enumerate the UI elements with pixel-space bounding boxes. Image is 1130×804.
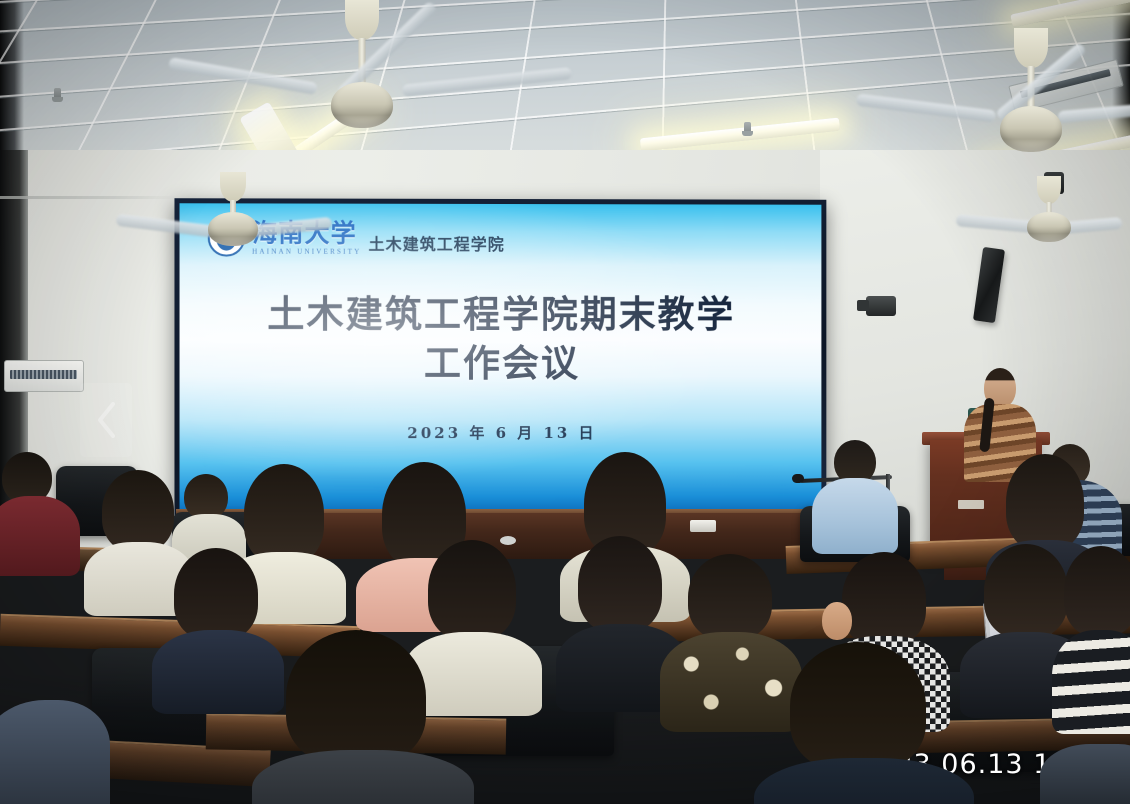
attendee-body — [1040, 744, 1130, 804]
split-air-conditioner — [4, 360, 84, 392]
attendee-head — [688, 554, 772, 640]
ceiling-tile-line — [0, 0, 1130, 68]
meeting-photo-screenshot: HN 海南大学 HAINAN UNIVERSITY 土木建筑工程学院 土木建筑工… — [0, 0, 1130, 804]
slide-title-line-2: 工作会议 — [214, 339, 788, 388]
attendee-head — [1006, 454, 1084, 550]
attendee-head — [1064, 546, 1130, 636]
slide-title-line-1: 土木建筑工程学院期末教学 — [214, 290, 788, 339]
podium-nameplate — [958, 500, 984, 509]
microphone-head — [792, 474, 804, 483]
ceiling-tile-line — [0, 0, 1130, 36]
attendee-body — [0, 700, 110, 804]
attendee-foreground-right — [754, 642, 972, 804]
wall-mounted-camera — [866, 296, 896, 316]
sprinkler-head — [744, 122, 751, 135]
sprinkler-head — [54, 88, 61, 101]
attendee-body — [252, 750, 474, 804]
attendee-foreground-far-right — [1040, 744, 1130, 804]
attendee-body — [0, 496, 80, 576]
attendee-head — [102, 470, 174, 552]
ceiling-fan-center — [292, 0, 432, 130]
attendee-hand — [822, 602, 852, 640]
ceiling-fan-left — [178, 172, 288, 262]
attendee-striped-sweater — [1052, 546, 1130, 726]
back-button[interactable] — [80, 383, 132, 457]
attendee-head — [790, 642, 926, 770]
attendee-body — [754, 758, 974, 804]
attendee-head — [428, 540, 516, 640]
attendee-head — [842, 552, 926, 646]
attendee-front-blue-shirt — [812, 440, 896, 550]
ceiling-fan-right — [966, 28, 1096, 158]
desk-device — [690, 520, 716, 532]
fluorescent-tube-light — [640, 118, 840, 152]
attendee-head — [174, 548, 258, 640]
attendee-head — [286, 630, 426, 764]
chevron-left-icon — [93, 400, 119, 440]
attendee-body — [1052, 630, 1130, 734]
attendee-row2-dark — [0, 452, 80, 572]
attendee-foreground-left — [0, 700, 110, 804]
slide-date: 2023 年 6 月 13 日 — [180, 422, 822, 444]
ceiling-tile-line — [0, 0, 1130, 6]
attendee-body — [812, 478, 898, 554]
attendee-foreground-center — [252, 630, 472, 804]
wall-seam — [0, 196, 180, 199]
slide-title: 土木建筑工程学院期末教学 工作会议 — [180, 290, 822, 388]
attendee-head — [578, 536, 662, 632]
ceiling-fan-far-right — [1004, 176, 1094, 256]
department-name: 土木建筑工程学院 — [369, 231, 505, 255]
